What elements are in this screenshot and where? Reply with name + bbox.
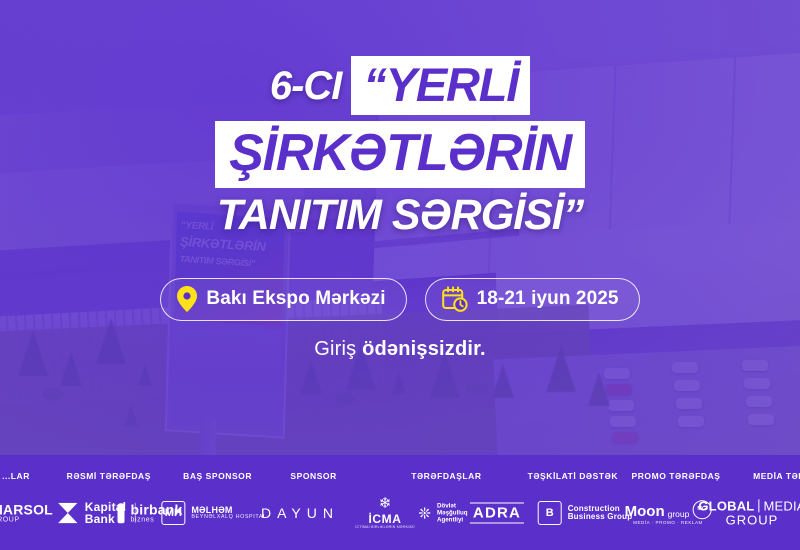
marsol-group-name: MARSOL — [0, 502, 53, 516]
date-label: 18-21 iyun 2025 — [477, 288, 619, 310]
free-entry-note: Giriş ödənişsizdir. — [0, 338, 800, 361]
cbg-line-2: Business Group — [568, 513, 633, 521]
headline-line-1: “YERLİ — [351, 56, 530, 115]
sponsor-bar: ...LAR RƏSMİ TƏRƏFDAŞ BAŞ SPONSOR SPONSO… — [0, 455, 800, 550]
sponsor-category: TƏRƏFDAŞLAR — [411, 471, 481, 481]
cbg-monogram-icon: B — [538, 501, 562, 525]
dovlet-mesgulluq-agentliyi-logo[interactable]: ❊ Dövlət Məşğulluq Agentliyi — [418, 502, 467, 523]
icma-emblem-icon: ❄ — [379, 496, 392, 513]
map-pin-icon — [177, 286, 197, 312]
melhem-monogram-icon: MH — [161, 501, 185, 525]
gmg-part-3: GROUP — [726, 513, 779, 527]
venue-pill[interactable]: Bakı Ekspo Mərkəzi — [160, 278, 406, 321]
construction-business-group-logo[interactable]: B Construction Business Group — [538, 501, 633, 525]
dma-line-3: Agentliyi — [437, 517, 468, 524]
headline-line-2: ŞİRKƏTLƏRİN — [215, 121, 585, 188]
marsol-group-sub: GROUP — [0, 517, 53, 524]
free-entry-emphasis: ödənişsizdir. — [362, 338, 486, 360]
icma-sub: İCTİMAİ BİRLİKLƏRİN MƏRKƏZİ — [355, 526, 414, 530]
adra-logo[interactable]: ADRA — [470, 503, 524, 524]
global-media-group-logo[interactable]: GLOBAL MEDIA GROUP — [698, 499, 800, 526]
event-headline: 6-CI “YERLİ ŞİRKƏTLƏRİN TANITIM SƏRGİSİ” — [0, 56, 800, 237]
sponsor-logo-row: MARSOL GROUP Kapital Bank birbank biznes — [0, 491, 800, 535]
dma-line-2: Məşğulluq — [437, 509, 468, 516]
sponsor-category-row: ...LAR RƏSMİ TƏRƏFDAŞ BAŞ SPONSOR SPONSO… — [0, 471, 800, 485]
free-entry-prefix: Giriş — [314, 338, 356, 360]
marsol-group-logo[interactable]: MARSOL GROUP — [0, 502, 53, 523]
sponsor-category: MEDİA TƏRƏ — [753, 471, 800, 481]
birbank-mark-icon — [118, 503, 125, 523]
event-poster: “YERLİ ŞİRKƏTLƏRİN TANITIM SƏRGİSİ” 6-CI… — [0, 0, 800, 550]
dma-line-1: Dövlət — [437, 502, 468, 509]
moon-sub: group — [668, 510, 690, 519]
venue-label: Bakı Ekspo Mərkəzi — [206, 288, 385, 310]
gmg-separator — [758, 500, 759, 513]
headline-ordinal: 6-CI — [270, 66, 352, 106]
sponsor-category: PROMO TƏRƏFDAŞ — [632, 471, 721, 481]
gmg-part-1: GLOBAL — [698, 499, 754, 513]
moon-tagline: MEDİA · PROMO · REKLAM — [633, 521, 703, 526]
dayun-logo[interactable]: DAYUN — [261, 505, 339, 521]
calendar-clock-icon — [442, 286, 468, 312]
sponsor-category: SPONSOR — [290, 471, 336, 481]
melhem-hospital-logo[interactable]: MH MƏLHƏM BEYNƏLXALQ HOSPITAL — [161, 501, 266, 525]
adra-name: ADRA — [470, 503, 524, 524]
dayun-name: DAYUN — [261, 505, 339, 521]
sponsor-category: BAŞ SPONSOR — [183, 471, 252, 481]
headline-line-3: TANITIM SƏRGİSİ” — [217, 194, 584, 237]
gmg-part-2: MEDIA — [763, 499, 800, 513]
date-pill[interactable]: 18-21 iyun 2025 — [425, 278, 640, 321]
sponsor-category: RƏSMİ TƏRƏFDAŞ — [67, 471, 151, 481]
event-info-pills: Bakı Ekspo Mərkəzi 18-21 iyun 2025 — [0, 278, 800, 321]
kapital-bank-mark-icon — [57, 502, 79, 524]
sponsor-category: ...LAR — [2, 471, 30, 481]
icma-name: İCMA — [368, 513, 401, 526]
moon-name: Moon — [625, 504, 665, 519]
icma-logo[interactable]: ❄ İCMA İCTİMAİ BİRLİKLƏRİN MƏRKƏZİ — [355, 496, 414, 530]
sponsor-category: TƏŞKİLATİ DƏSTƏK — [528, 471, 618, 481]
melhem-sub: BEYNƏLXALQ HOSPITAL — [191, 515, 266, 521]
dma-emblem-icon: ❊ — [418, 504, 431, 522]
